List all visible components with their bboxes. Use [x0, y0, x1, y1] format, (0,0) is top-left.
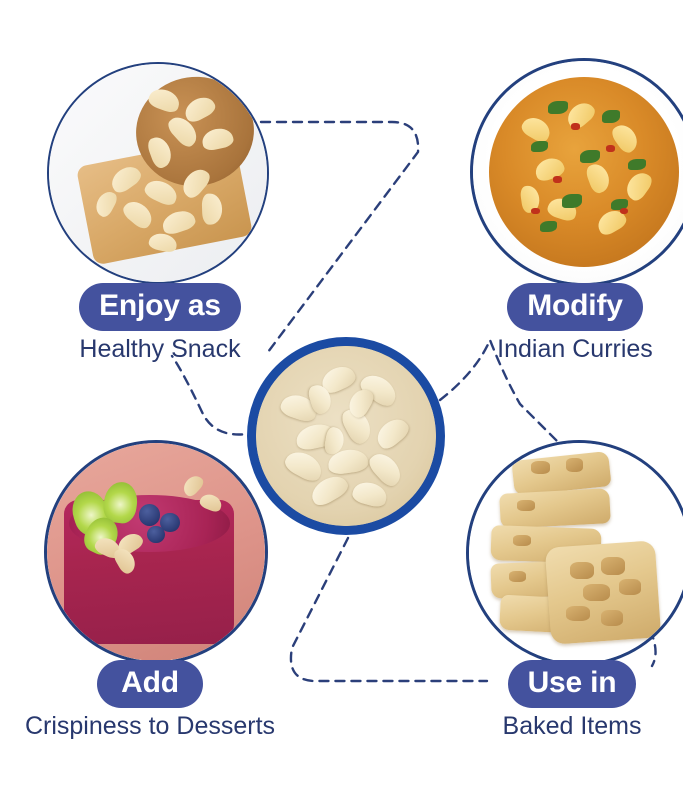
curry-badge[interactable]: Modify [507, 283, 642, 331]
cookie-stack-illustration [469, 443, 683, 663]
dessert-label-group: Add Crispiness to Desserts [0, 660, 300, 741]
baked-image[interactable] [466, 440, 683, 666]
curry-image[interactable] [470, 58, 683, 286]
smoothie-bowl-illustration [47, 443, 265, 661]
dessert-badge[interactable]: Add [97, 660, 203, 708]
snack-badge[interactable]: Enjoy as [79, 283, 241, 331]
baked-label-group: Use in Baked Items [452, 660, 683, 741]
curry-label-group: Modify Indian Curries [450, 283, 683, 364]
snack-label-group: Enjoy as Healthy Snack [10, 283, 310, 364]
baked-subtitle: Baked Items [452, 713, 683, 741]
curry-subtitle: Indian Curries [450, 336, 683, 364]
infographic-canvas: Enjoy as Healthy Snack [0, 0, 683, 800]
connector-center-to-dessert [172, 356, 258, 435]
baked-badge[interactable]: Use in [508, 660, 637, 708]
snack-subtitle: Healthy Snack [10, 336, 310, 364]
curry-bowl-illustration [473, 61, 683, 283]
center-cashew-bowl-image [247, 337, 445, 535]
cashew-bowl-illustration [256, 346, 436, 526]
snack-image[interactable] [47, 62, 269, 284]
dessert-image[interactable] [44, 440, 268, 664]
dessert-subtitle: Crispiness to Desserts [0, 713, 300, 741]
cutting-board-illustration [49, 64, 267, 282]
